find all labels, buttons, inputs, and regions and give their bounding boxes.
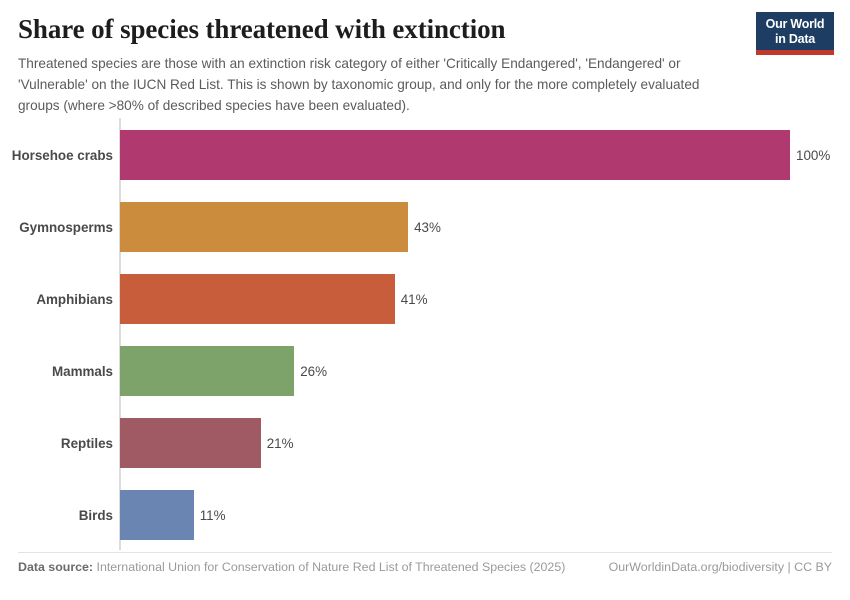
bar-category-label: Horsehoe crabs: [0, 130, 113, 180]
bar-value-label: 41%: [401, 274, 428, 324]
chart-footer: Data source: International Union for Con…: [0, 560, 850, 574]
bar[interactable]: [120, 130, 790, 180]
data-source: Data source: International Union for Con…: [18, 560, 565, 574]
chart-header: Share of species threatened with extinct…: [0, 0, 850, 116]
footer-divider: [18, 552, 832, 553]
y-axis-line: [119, 118, 121, 550]
chart-subtitle: Threatened species are those with an ext…: [18, 53, 743, 116]
bar[interactable]: [120, 346, 294, 396]
bar-category-label: Birds: [0, 490, 113, 540]
bar[interactable]: [120, 490, 194, 540]
bar-value-label: 26%: [300, 346, 327, 396]
chart-plot-area: Horsehoe crabs100%Gymnosperms43%Amphibia…: [0, 118, 850, 550]
bar-value-label: 11%: [200, 490, 226, 540]
footer-attribution-link[interactable]: OurWorldinData.org/biodiversity | CC BY: [609, 560, 832, 574]
data-source-label: Data source:: [18, 560, 93, 574]
bar-row[interactable]: Reptiles21%: [0, 418, 850, 468]
data-source-text: International Union for Conservation of …: [97, 560, 566, 574]
bar[interactable]: [120, 202, 408, 252]
bar-row[interactable]: Horsehoe crabs100%: [0, 130, 850, 180]
bar-category-label: Gymnosperms: [0, 202, 113, 252]
bar-row[interactable]: Amphibians41%: [0, 274, 850, 324]
bar-value-label: 21%: [267, 418, 294, 468]
chart-page: Share of species threatened with extinct…: [0, 0, 850, 600]
bar[interactable]: [120, 274, 395, 324]
page-title: Share of species threatened with extinct…: [18, 14, 758, 44]
our-world-in-data-logo[interactable]: Our World in Data: [756, 12, 834, 55]
bar-category-label: Reptiles: [0, 418, 113, 468]
bar-row[interactable]: Mammals26%: [0, 346, 850, 396]
bar[interactable]: [120, 418, 261, 468]
bar-row[interactable]: Gymnosperms43%: [0, 202, 850, 252]
logo-line-2: in Data: [758, 32, 832, 47]
bar-value-label: 43%: [414, 202, 441, 252]
logo-line-1: Our World: [758, 17, 832, 32]
bar-row[interactable]: Birds11%: [0, 490, 850, 540]
bar-category-label: Mammals: [0, 346, 113, 396]
bar-category-label: Amphibians: [0, 274, 113, 324]
bar-value-label: 100%: [796, 130, 830, 180]
